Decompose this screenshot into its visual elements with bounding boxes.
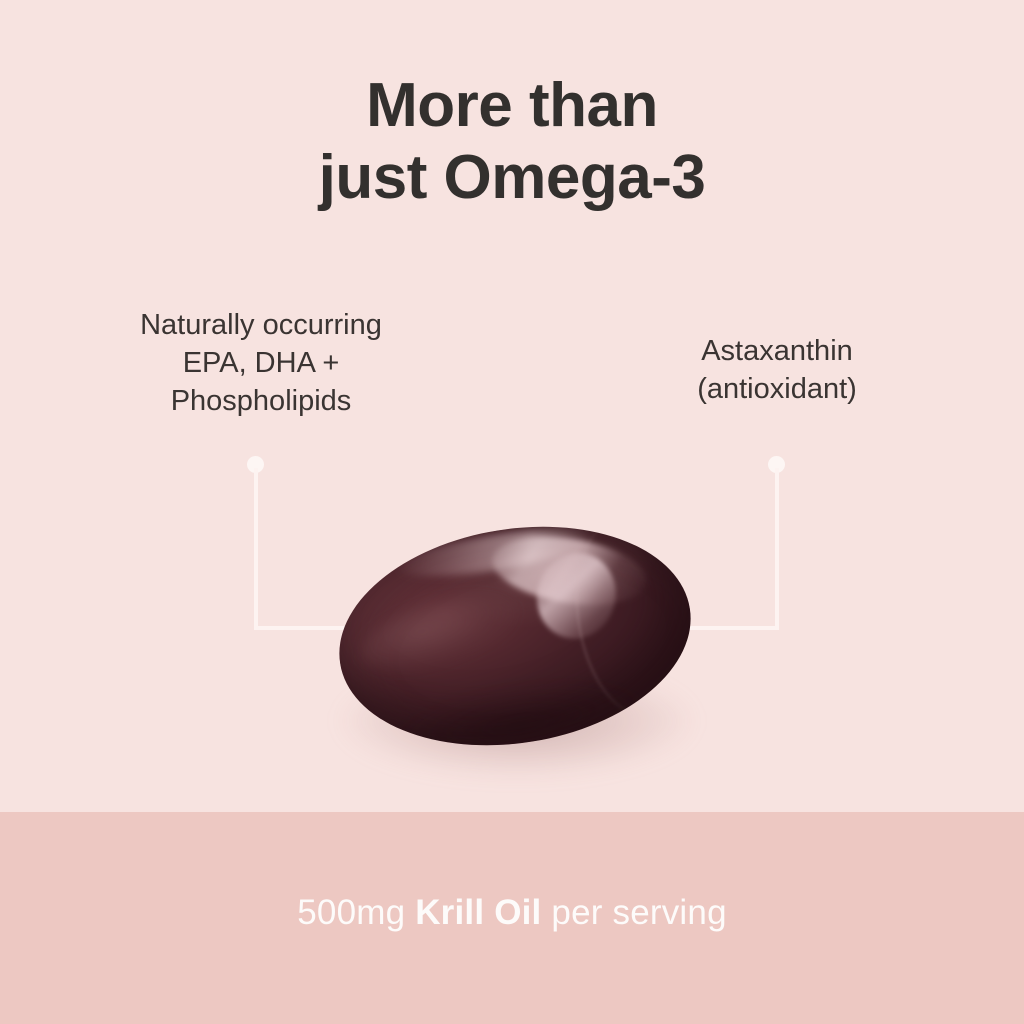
serving-suffix: per serving [551, 893, 726, 932]
page-title: More than just Omega-3 [0, 70, 1024, 214]
annotation-label-epa-dha-phospholipids: Naturally occurring EPA, DHA + Phospholi… [61, 306, 461, 420]
annotation-label-astaxanthin: Astaxanthin (antioxidant) [617, 332, 937, 408]
serving-statement: 500mg Krill Oil per serving [0, 890, 1024, 936]
serving-space-1 [405, 893, 415, 932]
product-image-softgel-capsule [330, 516, 702, 766]
product-infographic: More than just Omega-3 Naturally occurri… [0, 0, 1024, 1024]
capsule-lower-sheen [352, 578, 526, 687]
serving-amount: 500mg [297, 893, 405, 932]
leader-line-right-vertical [775, 468, 779, 630]
leader-line-left-vertical [254, 468, 258, 630]
serving-product-name: Krill Oil [415, 893, 541, 932]
serving-space-2 [541, 893, 551, 932]
